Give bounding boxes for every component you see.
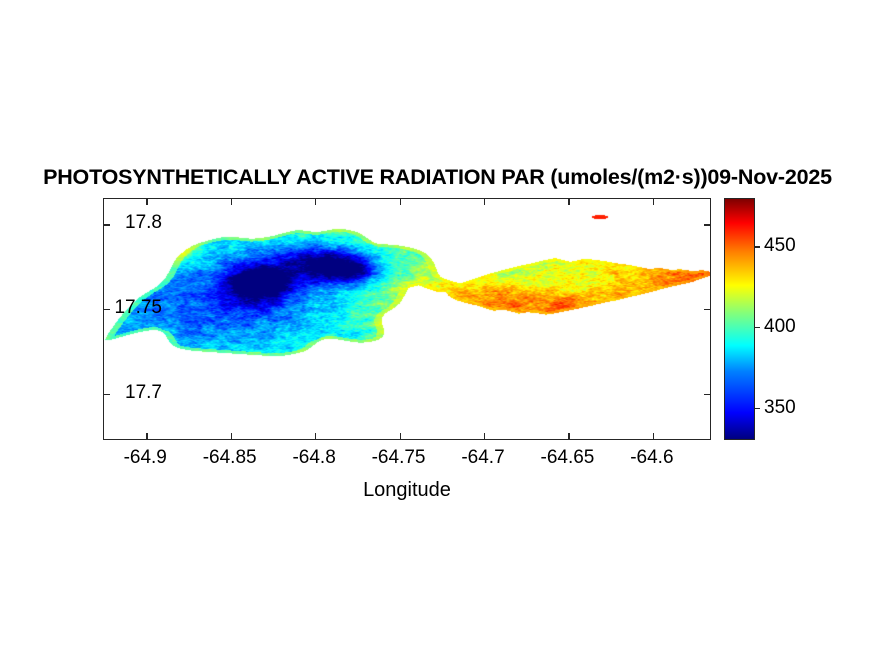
- x-tick-label: -64.85: [203, 447, 257, 469]
- x-tick: [653, 199, 654, 205]
- x-tick-label: -64.6: [630, 447, 673, 469]
- y-tick-label: 17.7: [125, 382, 162, 404]
- x-tick: [315, 199, 316, 205]
- y-axis-label: Latitude: [0, 283, 6, 354]
- x-tick: [568, 199, 569, 205]
- x-tick: [400, 199, 401, 205]
- y-tick: [104, 224, 110, 225]
- x-tick: [653, 433, 654, 439]
- x-tick: [231, 199, 232, 205]
- x-axis-label: Longitude: [103, 479, 711, 502]
- y-tick-label: 17.75: [114, 297, 162, 319]
- par-heatmap: [104, 199, 711, 440]
- x-tick: [146, 199, 147, 205]
- colorbar-tick-label: 400: [764, 316, 796, 338]
- colorbar-tick: [755, 327, 760, 328]
- y-tick-label: 17.8: [125, 212, 162, 234]
- colorbar-tick-label: 350: [764, 397, 796, 419]
- x-tick-label: -64.9: [124, 447, 167, 469]
- y-tick: [104, 394, 110, 395]
- x-tick-label: -64.8: [292, 447, 335, 469]
- y-tick: [704, 224, 710, 225]
- x-tick-label: -64.75: [372, 447, 426, 469]
- x-tick: [146, 433, 147, 439]
- x-tick-label: -64.7: [461, 447, 504, 469]
- colorbar-tick: [755, 246, 760, 247]
- x-tick: [315, 433, 316, 439]
- x-tick-label: -64.65: [541, 447, 595, 469]
- figure-canvas: PHOTOSYNTHETICALLY ACTIVE RADIATION PAR …: [0, 0, 875, 656]
- page-title: PHOTOSYNTHETICALLY ACTIVE RADIATION PAR …: [0, 164, 875, 190]
- colorbar[interactable]: [724, 198, 755, 440]
- x-tick: [568, 433, 569, 439]
- y-tick: [704, 309, 710, 310]
- colorbar-tick-label: 450: [764, 235, 796, 257]
- x-tick: [400, 433, 401, 439]
- colorbar-tick: [755, 408, 760, 409]
- map-axes[interactable]: [103, 198, 711, 440]
- x-tick: [484, 433, 485, 439]
- y-tick: [104, 309, 110, 310]
- x-tick: [484, 199, 485, 205]
- x-tick: [231, 433, 232, 439]
- y-tick: [704, 394, 710, 395]
